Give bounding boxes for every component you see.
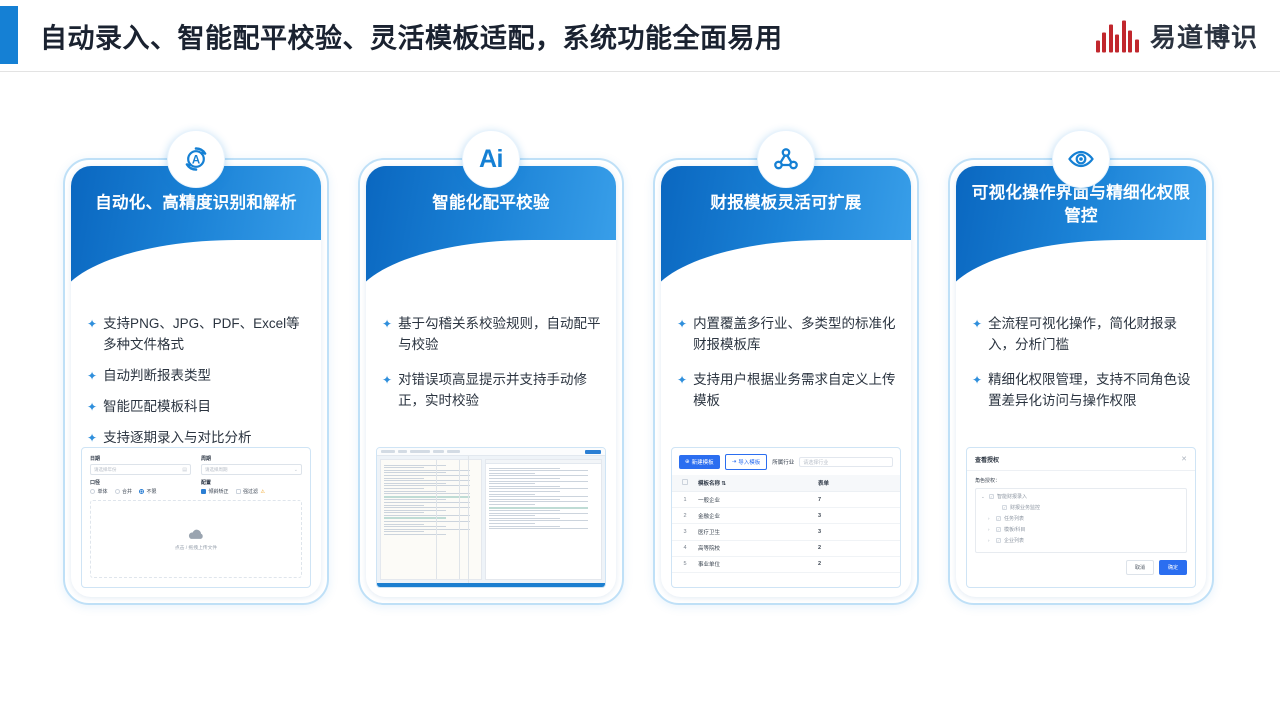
column-header-name[interactable]: 模板名称 ⇅	[698, 475, 818, 492]
row-count[interactable]: 2	[818, 556, 900, 572]
list-item: ✦ 支持逐期录入与对比分析	[87, 428, 307, 449]
import-icon: ⇥	[732, 459, 737, 465]
list-item: ✦ 支持用户根据业务需求自定义上传模板	[677, 370, 897, 412]
scope-option-label: 单体	[98, 488, 108, 495]
period-select[interactable]: 请选择周期 ⌄	[201, 464, 302, 475]
new-template-label: 新建模板	[692, 458, 714, 466]
row-name: 事业单位	[698, 556, 818, 572]
table-row[interactable]: 4 高等院校 2	[672, 540, 900, 556]
permission-tree: ⌄ ✓ 智能财报录入 ✓ 财报业务监控 › ✓ 任务列表	[975, 488, 1187, 553]
calendar-icon: ▤	[182, 467, 187, 473]
table-toolbar: ⊕ 新建模板 ⇥ 导入模板 所属行业 请选择行业	[672, 448, 900, 475]
auto-refresh-a-icon: A	[167, 130, 225, 188]
diamond-bullet-icon: ✦	[972, 370, 982, 412]
ai-text-icon: Ai	[462, 130, 520, 188]
sort-icon[interactable]: ⇅	[722, 481, 727, 487]
tree-node-label: 智能财报录入	[997, 493, 1027, 500]
bullet-text: 精细化权限管理，支持不同角色设置差异化访问与操作权限	[988, 370, 1192, 412]
checkbox-icon	[236, 489, 241, 494]
list-item: ✦ 对错误项高显提示并支持手动修正，实时校验	[382, 370, 602, 412]
feature-card-grid: 自动化、高精度识别和解析 ✦ 支持PNG、JPG、PDF、Excel等多种文件格…	[0, 130, 1280, 610]
brand-name: 易道博识	[1150, 17, 1258, 54]
template-table: 模板名称 ⇅ 表单 1 一般企业 7 2	[672, 475, 900, 573]
new-template-button[interactable]: ⊕ 新建模板	[679, 455, 720, 469]
card-title: 自动化、高精度识别和解析	[85, 192, 307, 215]
scope-radio-single[interactable]: 单体	[90, 488, 108, 495]
card-body: 财报模板灵活可扩展 ✦ 内置覆盖多行业、多类型的标准化财报模板库 ✦ 支持用户根…	[661, 166, 911, 597]
row-count[interactable]: 7	[818, 492, 900, 508]
svg-text:A: A	[192, 154, 200, 166]
row-index: 3	[672, 524, 698, 540]
thumbnail-template-table[interactable]: ⊕ 新建模板 ⇥ 导入模板 所属行业 请选择行业	[671, 447, 901, 588]
network-nodes-icon	[757, 130, 815, 188]
brand-logo: 易道博识	[1096, 17, 1258, 54]
bullet-text: 支持PNG、JPG、PDF、Excel等多种文件格式	[103, 314, 307, 356]
card-title: 财报模板灵活可扩展	[675, 192, 897, 215]
config-option-label: 强过滤	[243, 488, 258, 495]
scope-label: 口径	[90, 479, 191, 486]
industry-select[interactable]: 请选择行业	[799, 457, 893, 467]
bullet-text: 基于勾稽关系校验规则，自动配平与校验	[398, 314, 602, 356]
table-row[interactable]: 5 事业单位 2	[672, 556, 900, 572]
thumb-toolbar	[377, 448, 605, 456]
config-option-label: 倾斜矫正	[209, 488, 229, 495]
waveform-bars-icon	[1096, 19, 1139, 53]
card-bullet-list: ✦ 基于勾稽关系校验规则，自动配平与校验 ✦ 对错误项高显提示并支持手动修正，实…	[382, 314, 602, 422]
diamond-bullet-icon: ✦	[972, 314, 982, 356]
feature-card-1[interactable]: 自动化、高精度识别和解析 ✦ 支持PNG、JPG、PDF、Excel等多种文件格…	[63, 130, 329, 605]
card-title: 智能化配平校验	[380, 192, 602, 215]
feature-card-2[interactable]: 智能化配平校验 ✦ 基于勾稽关系校验规则，自动配平与校验 ✦ 对错误项高显提示并…	[358, 130, 624, 605]
close-icon[interactable]: ✕	[1181, 455, 1187, 463]
industry-placeholder: 请选择行业	[803, 459, 828, 466]
row-index: 2	[672, 508, 698, 524]
plus-circle-icon: ⊕	[685, 459, 690, 465]
file-dropzone[interactable]: 点击 / 拖拽上传文件	[90, 500, 302, 578]
row-index: 4	[672, 540, 698, 556]
scope-option-label: 不限	[147, 488, 157, 495]
diamond-bullet-icon: ✦	[87, 397, 97, 418]
confirm-button[interactable]: 确定	[1159, 560, 1187, 575]
row-index: 1	[672, 492, 698, 508]
table-row[interactable]: 2 金融企业 3	[672, 508, 900, 524]
list-item: ✦ 内置覆盖多行业、多类型的标准化财报模板库	[677, 314, 897, 356]
bullet-text: 支持逐期录入与对比分析	[103, 428, 252, 449]
checkbox-checked-icon	[201, 489, 206, 494]
chevron-down-icon: ⌄	[294, 467, 298, 473]
bullet-text: 支持用户根据业务需求自定义上传模板	[693, 370, 897, 412]
config-label: 配置	[201, 479, 302, 486]
tree-node[interactable]: › ✓ 任务列表	[981, 515, 1181, 522]
bullet-text: 对错误项高显提示并支持手动修正，实时校验	[398, 370, 602, 412]
page-title: 自动录入、智能配平校验、灵活模板适配，系统功能全面易用	[40, 16, 783, 55]
diamond-bullet-icon: ✦	[87, 314, 97, 356]
tree-node-label: 财报业务监控	[1010, 504, 1040, 511]
checkbox-checked-icon[interactable]: ✓	[996, 516, 1001, 521]
bullet-text: 智能匹配模板科目	[103, 397, 211, 418]
diamond-bullet-icon: ✦	[677, 314, 687, 356]
thumbnail-document-compare[interactable]	[376, 447, 606, 588]
tree-node-label: 模板/科目	[1004, 526, 1025, 533]
card-bullet-list: ✦ 全流程可视化操作，简化财报录入，分析门槛 ✦ 精细化权限管理，支持不同角色设…	[972, 314, 1192, 422]
diamond-bullet-icon: ✦	[87, 366, 97, 387]
list-item: ✦ 全流程可视化操作，简化财报录入，分析门槛	[972, 314, 1192, 356]
row-name: 高等院校	[698, 540, 818, 556]
table-header-row: 模板名称 ⇅ 表单	[672, 475, 900, 492]
diamond-bullet-icon: ✦	[677, 370, 687, 412]
row-index: 5	[672, 556, 698, 572]
tree-node-label: 企业列表	[1004, 537, 1024, 544]
list-item: ✦ 智能匹配模板科目	[87, 397, 307, 418]
scope-option-label: 合并	[122, 488, 132, 495]
chevron-right-icon[interactable]: ›	[988, 538, 993, 543]
tree-node[interactable]: ⌄ ✓ 智能财报录入	[981, 493, 1181, 500]
row-name: 医疗卫生	[698, 524, 818, 540]
structured-table-pane	[485, 459, 602, 580]
date-placeholder: 请选择年份	[94, 467, 117, 473]
bullet-text: 自动判断报表类型	[103, 366, 211, 387]
radio-icon	[115, 489, 120, 494]
radio-selected-icon	[139, 489, 144, 494]
table-row[interactable]: 1 一般企业 7	[672, 492, 900, 508]
list-item: ✦ 精细化权限管理，支持不同角色设置差异化访问与操作权限	[972, 370, 1192, 412]
import-template-label: 导入模板	[738, 458, 760, 466]
industry-label: 所属行业	[772, 458, 794, 466]
chevron-down-icon[interactable]: ⌄	[981, 494, 986, 500]
import-template-button[interactable]: ⇥ 导入模板	[725, 454, 768, 470]
list-item: ✦ 基于勾稽关系校验规则，自动配平与校验	[382, 314, 602, 356]
row-name: 金融企业	[698, 508, 818, 524]
warning-icon: ⚠	[261, 489, 265, 495]
cancel-button[interactable]: 取消	[1126, 560, 1154, 575]
thumb-footer-bar	[377, 583, 605, 587]
card-body: 智能化配平校验 ✦ 基于勾稽关系校验规则，自动配平与校验 ✦ 对错误项高显提示并…	[366, 166, 616, 597]
scanned-document-pane	[380, 459, 482, 580]
checkbox-icon[interactable]	[682, 479, 688, 485]
checkbox-checked-icon[interactable]: ✓	[996, 527, 1001, 532]
radio-icon	[90, 489, 95, 494]
diamond-bullet-icon: ✦	[382, 370, 392, 412]
tree-node-label: 任务列表	[1004, 515, 1024, 522]
row-count[interactable]: 2	[818, 540, 900, 556]
row-count[interactable]: 3	[818, 508, 900, 524]
checkbox-checked-icon[interactable]: ✓	[1002, 505, 1007, 510]
ai-label: Ai	[479, 145, 503, 174]
scope-radio-merged[interactable]: 合并	[115, 488, 133, 495]
period-placeholder: 请选择周期	[205, 467, 228, 473]
select-all-header[interactable]	[672, 475, 698, 492]
card-body: 自动化、高精度识别和解析 ✦ 支持PNG、JPG、PDF、Excel等多种文件格…	[71, 166, 321, 597]
divider	[967, 470, 1195, 471]
chevron-right-icon[interactable]: ›	[988, 527, 993, 532]
feature-card-3[interactable]: 财报模板灵活可扩展 ✦ 内置覆盖多行业、多类型的标准化财报模板库 ✦ 支持用户根…	[653, 130, 919, 605]
dropzone-text: 点击 / 拖拽上传文件	[175, 544, 217, 551]
card-title: 可视化操作界面与精细化权限管控	[970, 182, 1192, 229]
thumbnail-auth-dialog[interactable]: 查看授权 ✕ 角色授权： ⌄ ✓ 智能财报录入 ✓ 财报业务监控	[966, 447, 1196, 588]
card-body: 可视化操作界面与精细化权限管控 ✦ 全流程可视化操作，简化财报录入，分析门槛 ✦…	[956, 166, 1206, 597]
config-checkbox-deskew[interactable]: 倾斜矫正	[201, 488, 229, 495]
row-count[interactable]: 3	[818, 524, 900, 540]
checkbox-checked-icon[interactable]: ✓	[996, 538, 1001, 543]
card-bullet-list: ✦ 支持PNG、JPG、PDF、Excel等多种文件格式 ✦ 自动判断报表类型 …	[87, 314, 307, 459]
config-checkbox-strongfilter[interactable]: 强过滤 ⚠	[236, 488, 266, 495]
cloud-upload-icon	[187, 528, 205, 541]
eye-icon	[1052, 130, 1110, 188]
date-input[interactable]: 请选择年份 ▤	[90, 464, 191, 475]
diamond-bullet-icon: ✦	[382, 314, 392, 356]
table-row[interactable]: 3 医疗卫生 3	[672, 524, 900, 540]
row-name: 一般企业	[698, 492, 818, 508]
tree-node[interactable]: › ✓ 企业列表	[981, 537, 1181, 544]
card-bullet-list: ✦ 内置覆盖多行业、多类型的标准化财报模板库 ✦ 支持用户根据业务需求自定义上传…	[677, 314, 897, 422]
diamond-bullet-icon: ✦	[87, 428, 97, 449]
dialog-actions: 取消 确定	[975, 560, 1187, 575]
checkbox-checked-icon[interactable]: ✓	[989, 494, 994, 499]
page-header: 自动录入、智能配平校验、灵活模板适配，系统功能全面易用 易道博识	[0, 0, 1280, 72]
tree-node[interactable]: › ✓ 模板/科目	[981, 526, 1181, 533]
dialog-title: 查看授权	[975, 455, 1187, 464]
feature-card-4[interactable]: 可视化操作界面与精细化权限管控 ✦ 全流程可视化操作，简化财报录入，分析门槛 ✦…	[948, 130, 1214, 605]
bullet-text: 全流程可视化操作，简化财报录入，分析门槛	[988, 314, 1192, 356]
thumbnail-upload-form[interactable]: 日期 请选择年份 ▤ 周期 请选择周期 ⌄	[81, 447, 311, 588]
scope-radio-any[interactable]: 不限	[139, 488, 157, 495]
header-accent-bar	[0, 6, 18, 64]
list-item: ✦ 支持PNG、JPG、PDF、Excel等多种文件格式	[87, 314, 307, 356]
list-item: ✦ 自动判断报表类型	[87, 366, 307, 387]
section-label: 角色授权：	[975, 477, 1187, 484]
tree-node[interactable]: ✓ 财报业务监控	[981, 504, 1181, 511]
chevron-right-icon[interactable]: ›	[988, 516, 993, 521]
bullet-text: 内置覆盖多行业、多类型的标准化财报模板库	[693, 314, 897, 356]
column-header-forms: 表单	[818, 475, 900, 492]
